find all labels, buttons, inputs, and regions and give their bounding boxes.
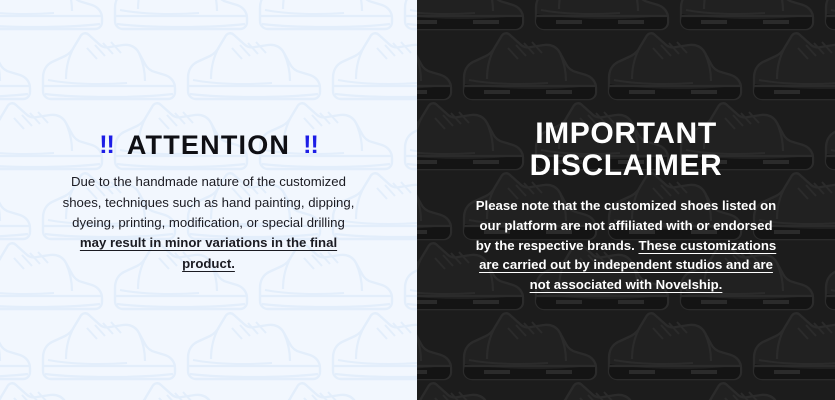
disclaimer-panel: IMPORTANT DISCLAIMER Please note that th… <box>417 0 835 400</box>
disclaimer-body: Please note that the customized shoes li… <box>445 196 807 295</box>
attention-panel: !! ATTENTION !! Due to the handmade natu… <box>0 0 417 400</box>
attention-heading-text: ATTENTION <box>127 131 290 159</box>
exclamation-left-icon: !! <box>99 133 114 158</box>
attention-body-emphasis: may result in minor variations in the fi… <box>80 235 337 270</box>
disclaimer-heading: IMPORTANT DISCLAIMER <box>445 118 807 181</box>
attention-heading: !! ATTENTION !! <box>34 131 383 159</box>
attention-content: !! ATTENTION !! Due to the handmade natu… <box>0 0 417 274</box>
disclaimer-heading-line2: DISCLAIMER <box>445 150 807 182</box>
attention-body: Due to the handmade nature of the custom… <box>34 172 383 274</box>
disclaimer-heading-line1: IMPORTANT <box>445 118 807 150</box>
disclaimer-banner: !! ATTENTION !! Due to the handmade natu… <box>0 0 835 400</box>
disclaimer-content: IMPORTANT DISCLAIMER Please note that th… <box>417 0 835 295</box>
attention-body-plain: Due to the handmade nature of the custom… <box>63 174 355 230</box>
exclamation-right-icon: !! <box>303 133 318 158</box>
